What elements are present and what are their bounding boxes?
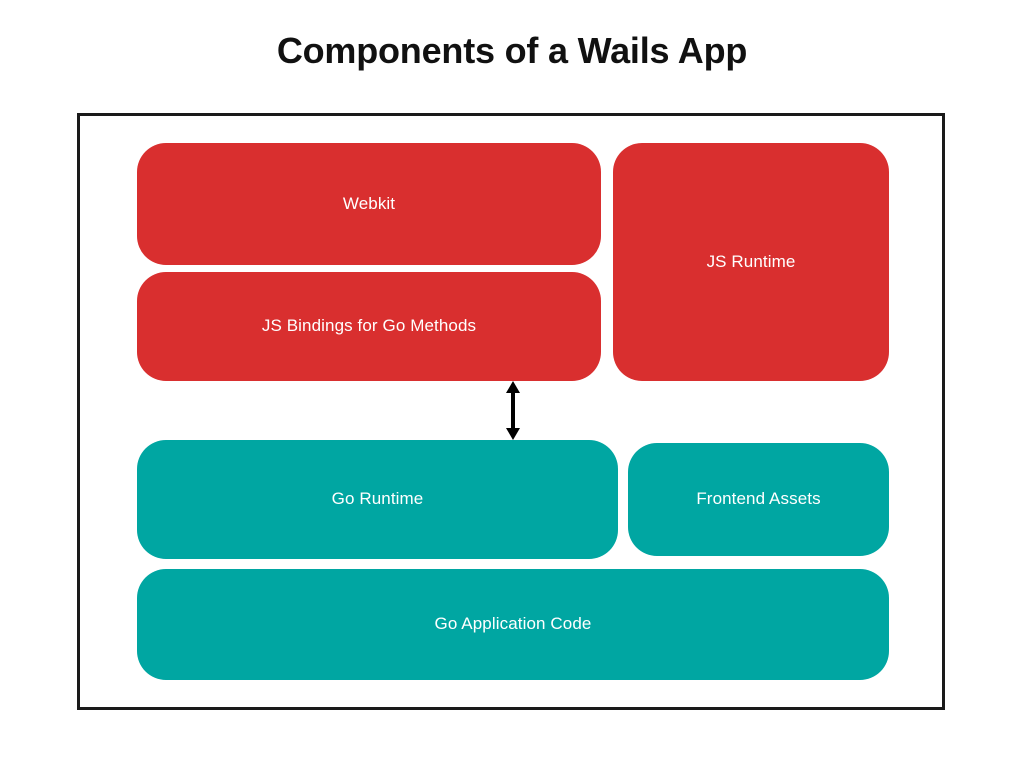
node-webkit-label: Webkit: [333, 194, 405, 214]
node-go-runtime-label: Go Runtime: [322, 489, 434, 509]
node-frontend-assets[interactable]: Frontend Assets: [628, 443, 889, 556]
page-title: Components of a Wails App: [0, 30, 1024, 72]
diagram-canvas: Components of a Wails App Webkit JS Bind…: [0, 0, 1024, 768]
node-go-application-code[interactable]: Go Application Code: [137, 569, 889, 680]
node-js-bindings[interactable]: JS Bindings for Go Methods: [137, 272, 601, 381]
node-js-bindings-label: JS Bindings for Go Methods: [252, 316, 486, 336]
node-js-runtime-label: JS Runtime: [697, 252, 806, 272]
node-js-runtime[interactable]: JS Runtime: [613, 143, 889, 381]
node-frontend-assets-label: Frontend Assets: [686, 489, 830, 509]
node-go-application-code-label: Go Application Code: [425, 614, 602, 634]
node-webkit[interactable]: Webkit: [137, 143, 601, 265]
node-go-runtime[interactable]: Go Runtime: [137, 440, 618, 559]
